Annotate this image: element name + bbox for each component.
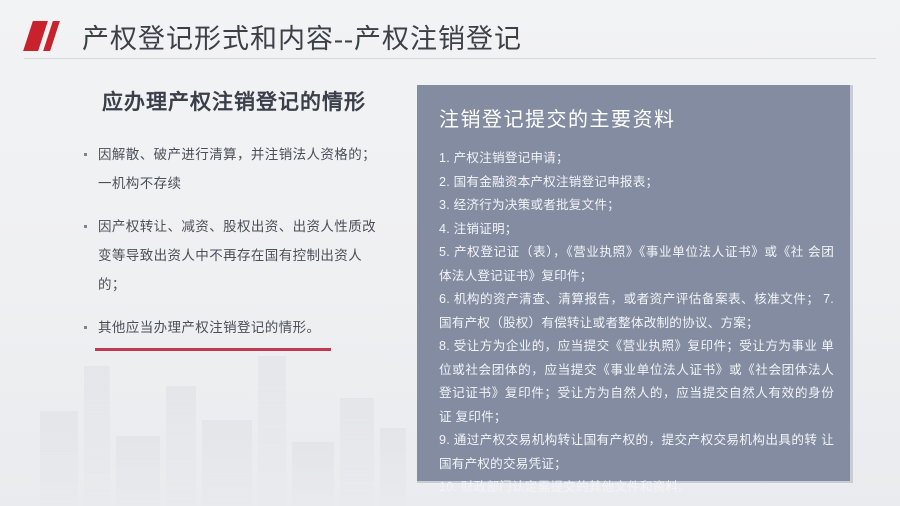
panel-numbered-list: 1. 产权注销登记申请； 2. 国有金融资本产权注销登记申报表； 3. 经济行为… <box>439 147 834 500</box>
list-item-text: 其他应当办理产权注销登记的情形。 <box>98 320 320 335</box>
right-panel: 注销登记提交的主要资料 1. 产权注销登记申请； 2. 国有金融资本产权注销登记… <box>417 85 853 483</box>
list-item: 3. 经济行为决策或者批复文件； <box>439 194 834 218</box>
panel-heading: 注销登记提交的主要资料 <box>439 105 834 135</box>
title-divider <box>24 58 876 59</box>
bullet-square-icon <box>84 153 87 156</box>
accent-slash-icon <box>26 21 72 51</box>
page-title: 产权登记形式和内容--产权注销登记 <box>82 17 522 56</box>
list-item: 8. 受让方为企业的，应当提交《营业执照》复印件；受让方为事业 单位或社会团体的… <box>439 335 834 429</box>
left-bullet-list: 因解散、破产进行清算，并注销法人资格的；一机构不存续 因产权转让、减资、股权出资… <box>84 140 384 342</box>
list-item: 6. 机构的资产清查、清算报告，或者资产评估备案表、核准文件； 7. 国有产权（… <box>439 288 834 335</box>
bullet-square-icon <box>84 326 87 329</box>
list-item: 9. 通过产权交易机构转让国有产权的，提交产权交易机构出具的转 让国有产权的交易… <box>439 429 834 476</box>
list-item: 1. 产权注销登记申请； <box>439 147 834 171</box>
list-item: 2. 国有金融资本产权注销登记申报表； <box>439 171 834 195</box>
bullet-square-icon <box>84 225 87 228</box>
left-heading: 应办理产权注销登记的情形 <box>84 88 384 118</box>
list-item: 因解散、破产进行清算，并注销法人资格的；一机构不存续 <box>84 140 384 198</box>
left-accent-rule <box>95 348 331 351</box>
list-item: 因产权转让、减资、股权出资、出资人性质改 变等导致出资人中不再存在国有控制出资人… <box>84 212 384 299</box>
left-column: 应办理产权注销登记的情形 因解散、破产进行清算，并注销法人资格的；一机构不存续 … <box>84 88 384 356</box>
list-item: 其他应当办理产权注销登记的情形。 <box>84 313 384 342</box>
slide-title-row: 产权登记形式和内容--产权注销登记 <box>0 14 900 58</box>
list-item: 5. 产权登记证（表），《营业执照》《事业单位法人证书》或《社 会团体法人登记证… <box>439 241 834 288</box>
list-item: 4. 注销证明； <box>439 218 834 242</box>
list-item-text: 因产权转让、减资、股权出资、出资人性质改 变等导致出资人中不再存在国有控制出资人… <box>98 219 376 292</box>
list-item-text: 因解散、破产进行清算，并注销法人资格的；一机构不存续 <box>98 147 376 191</box>
list-item: 10. 财政部门认定需提交的其他文件和资料。 <box>439 476 834 500</box>
slide-canvas: 产权登记形式和内容--产权注销登记 应办理产权注销登记的情形 因解散、破产进行清… <box>0 0 900 506</box>
